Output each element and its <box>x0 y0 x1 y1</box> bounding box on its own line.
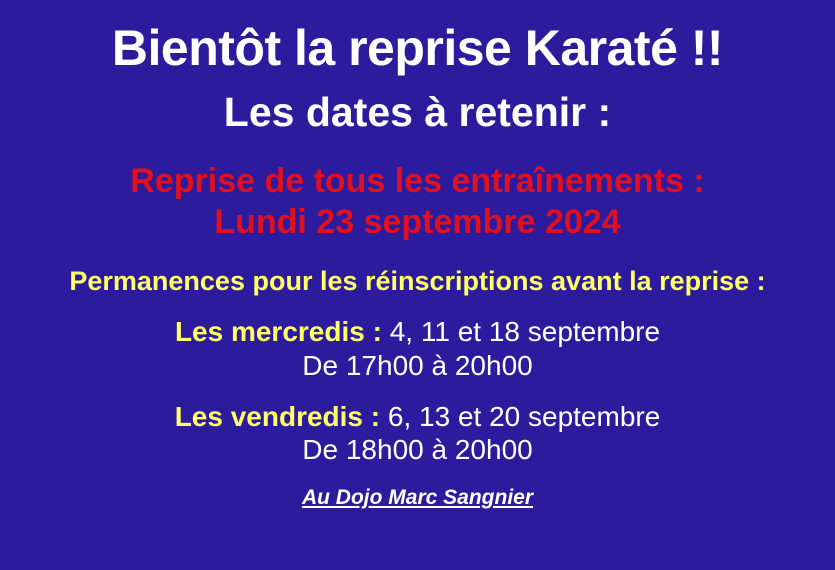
resumption-date: Lundi 23 septembre 2024 <box>214 205 620 241</box>
permanences-heading: Permanences pour les réinscriptions avan… <box>69 267 765 295</box>
schedule-row-wednesday: Les mercredis : 4, 11 et 18 septembre <box>175 317 660 346</box>
schedule-day-label-friday: Les vendredis : <box>175 401 380 432</box>
schedule-day-label-wednesday: Les mercredis : <box>175 316 382 347</box>
schedule-dates-friday: 6, 13 et 20 septembre <box>380 401 660 432</box>
poster-title-line-2: Les dates à retenir : <box>224 91 611 134</box>
venue-label: Au Dojo Marc Sangnier <box>302 487 533 509</box>
schedule-row-friday: Les vendredis : 6, 13 et 20 septembre <box>175 402 661 431</box>
poster-container: Bientôt la reprise Karaté !! Les dates à… <box>0 0 835 570</box>
schedule-dates-wednesday: 4, 11 et 18 septembre <box>382 316 660 347</box>
poster-title-line-1: Bientôt la reprise Karaté !! <box>112 22 723 75</box>
schedule-hours-wednesday: De 17h00 à 20h00 <box>302 351 532 380</box>
resumption-heading: Reprise de tous les entraînements : <box>130 164 704 200</box>
schedule-hours-friday: De 18h00 à 20h00 <box>302 435 532 464</box>
